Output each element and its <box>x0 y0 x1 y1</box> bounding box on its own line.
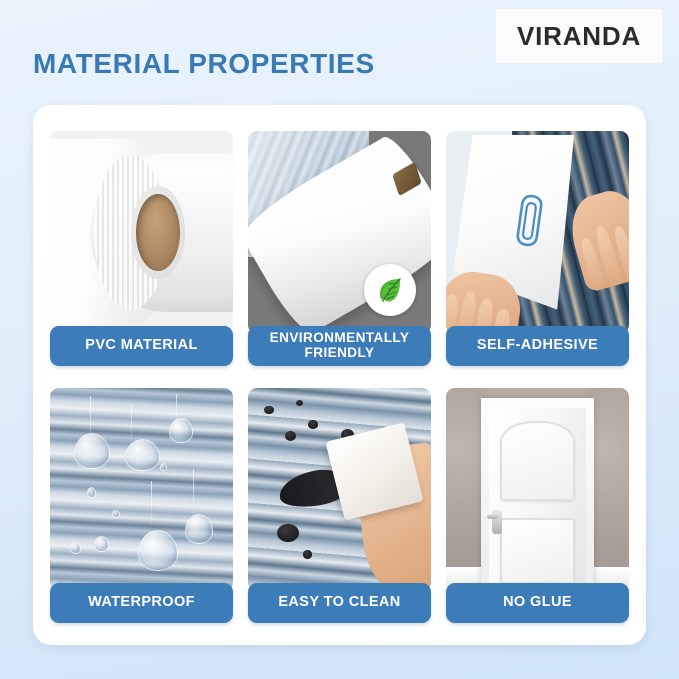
eco-wallpaper-image <box>248 131 431 334</box>
features-grid: PVC MATERIAL <box>50 131 629 623</box>
feature-label-waterproof: WATERPROOF <box>50 583 233 623</box>
feature-label-text: WATERPROOF <box>88 595 195 611</box>
feature-tile-waterproof[interactable]: WATERPROOF <box>50 388 233 623</box>
feature-label-text: ENVIRONMENTALLY FRIENDLY <box>248 331 431 360</box>
eco-badge <box>364 264 416 316</box>
no-glue-image <box>446 388 629 591</box>
feature-label-environmentally-friendly: ENVIRONMENTALLY FRIENDLY <box>248 326 431 366</box>
features-card: PVC MATERIAL <box>33 105 646 645</box>
page-title: MATERIAL PROPERTIES <box>33 48 375 80</box>
feature-label-text: SELF-ADHESIVE <box>477 338 598 354</box>
feature-label-text: EASY TO CLEAN <box>278 595 400 611</box>
feature-tile-self-adhesive[interactable]: SELF-ADHESIVE <box>446 131 629 366</box>
feature-tile-pvc-material[interactable]: PVC MATERIAL <box>50 131 233 366</box>
feature-label-pvc-material: PVC MATERIAL <box>50 326 233 366</box>
waterproof-image <box>50 388 233 591</box>
feature-label-text: PVC MATERIAL <box>85 338 197 354</box>
pvc-roll-image <box>50 131 233 334</box>
self-adhesive-image <box>446 131 629 334</box>
easy-to-clean-image <box>248 388 431 591</box>
door-handle-icon <box>492 510 503 534</box>
feature-label-text: NO GLUE <box>503 595 572 611</box>
leaf-icon <box>374 274 406 306</box>
feature-label-no-glue: NO GLUE <box>446 583 629 623</box>
feature-label-self-adhesive: SELF-ADHESIVE <box>446 326 629 366</box>
brand-name: VIRANDA <box>517 21 641 52</box>
feature-tile-no-glue[interactable]: NO GLUE <box>446 388 629 623</box>
feature-label-easy-to-clean: EASY TO CLEAN <box>248 583 431 623</box>
page-header: MATERIAL PROPERTIES VIRANDA <box>0 0 679 105</box>
feature-tile-environmentally-friendly[interactable]: ENVIRONMENTALLY FRIENDLY <box>248 131 431 366</box>
brand-logo: VIRANDA <box>496 9 662 63</box>
feature-tile-easy-to-clean[interactable]: EASY TO CLEAN <box>248 388 431 623</box>
